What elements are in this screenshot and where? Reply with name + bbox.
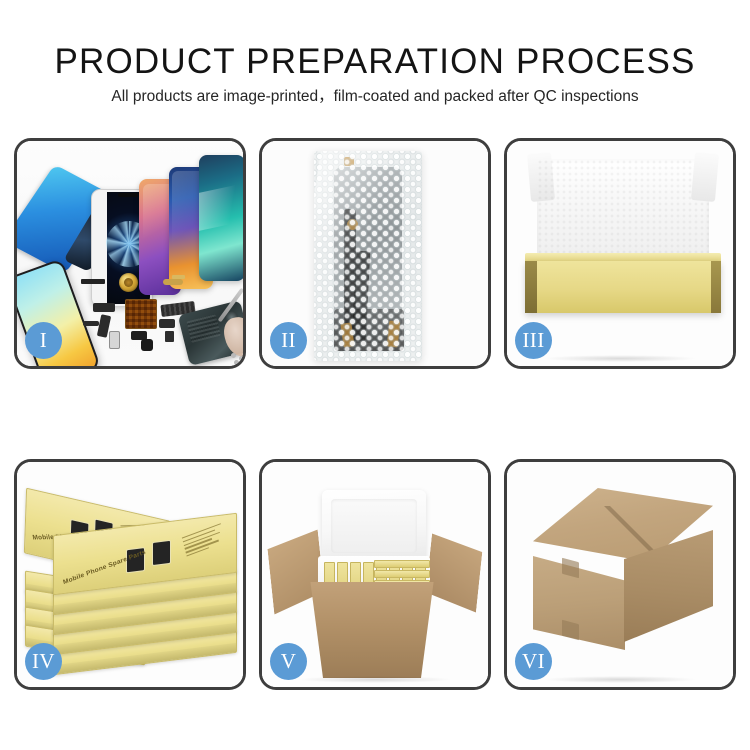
- step-image-bubble-wrapped-part: II: [262, 141, 488, 366]
- step-badge: IV: [25, 643, 62, 680]
- spare-parts-scatter: [79, 269, 243, 366]
- page-title: PRODUCT PREPARATION PROCESS: [0, 44, 750, 79]
- gold-contact-icon: [172, 275, 185, 279]
- ic-chip-icon: [165, 331, 174, 342]
- box-lip: [525, 253, 721, 261]
- step-panel-foam-lined-inner-box[interactable]: III: [504, 138, 736, 369]
- box-spec-lines: [182, 523, 226, 559]
- box-artwork-screen-icon: [152, 540, 171, 566]
- gold-coil-icon: [119, 273, 138, 292]
- page-subtitle: All products are image-printed，film-coat…: [0, 88, 750, 106]
- process-steps-grid: I II: [14, 138, 736, 690]
- bubble-wrap-package: [314, 151, 422, 361]
- flex-cable-icon: [93, 303, 115, 312]
- product-preparation-infographic: PRODUCT PREPARATION PROCESS All products…: [0, 0, 750, 750]
- battery-connector-icon: [109, 331, 120, 349]
- small-flex-icon: [159, 319, 175, 328]
- gold-connector-icon: [163, 279, 183, 285]
- step-panel-stacked-inner-boxes[interactable]: Mobile Phone Spare Parts Mobile Phone Sp…: [14, 459, 246, 690]
- screws-icon: [231, 353, 243, 365]
- step-badge: V: [270, 643, 307, 680]
- step-panel-sealed-shipping-carton[interactable]: VI: [504, 459, 736, 690]
- logic-board-grid-icon: [125, 299, 157, 329]
- step-badge: II: [270, 322, 307, 359]
- step-panel-phone-screens-and-spare-parts[interactable]: I: [14, 138, 246, 369]
- step-image-foam-cooler-in-carton: V: [262, 462, 488, 687]
- step-panel-bubble-wrapped-part[interactable]: II: [259, 138, 491, 369]
- step-image-foam-lined-inner-box: III: [507, 141, 733, 366]
- volume-button-icon: [83, 321, 99, 326]
- step-panel-foam-cooler-in-carton[interactable]: V: [259, 459, 491, 690]
- step-badge: I: [25, 322, 62, 359]
- teal-gradient-phone-icon: [199, 155, 243, 281]
- drop-shadow: [543, 355, 697, 362]
- step-image-sealed-shipping-carton: VI: [507, 462, 733, 687]
- step-badge: VI: [515, 643, 552, 680]
- yellow-inner-box: [525, 261, 721, 313]
- speaker-bar-icon: [81, 279, 105, 284]
- foam-cooler-lid: [322, 490, 426, 562]
- step-badge: III: [515, 322, 552, 359]
- notch-icon: [118, 193, 138, 197]
- drop-shadow: [298, 676, 452, 683]
- step-image-stacked-inner-boxes: Mobile Phone Spare Parts Mobile Phone Sp…: [17, 462, 243, 687]
- carton-body: [302, 582, 442, 678]
- step-image-phone-screens-and-spare-parts: I: [17, 141, 243, 366]
- camera-module-icon: [141, 339, 153, 351]
- drop-shadow: [543, 676, 697, 683]
